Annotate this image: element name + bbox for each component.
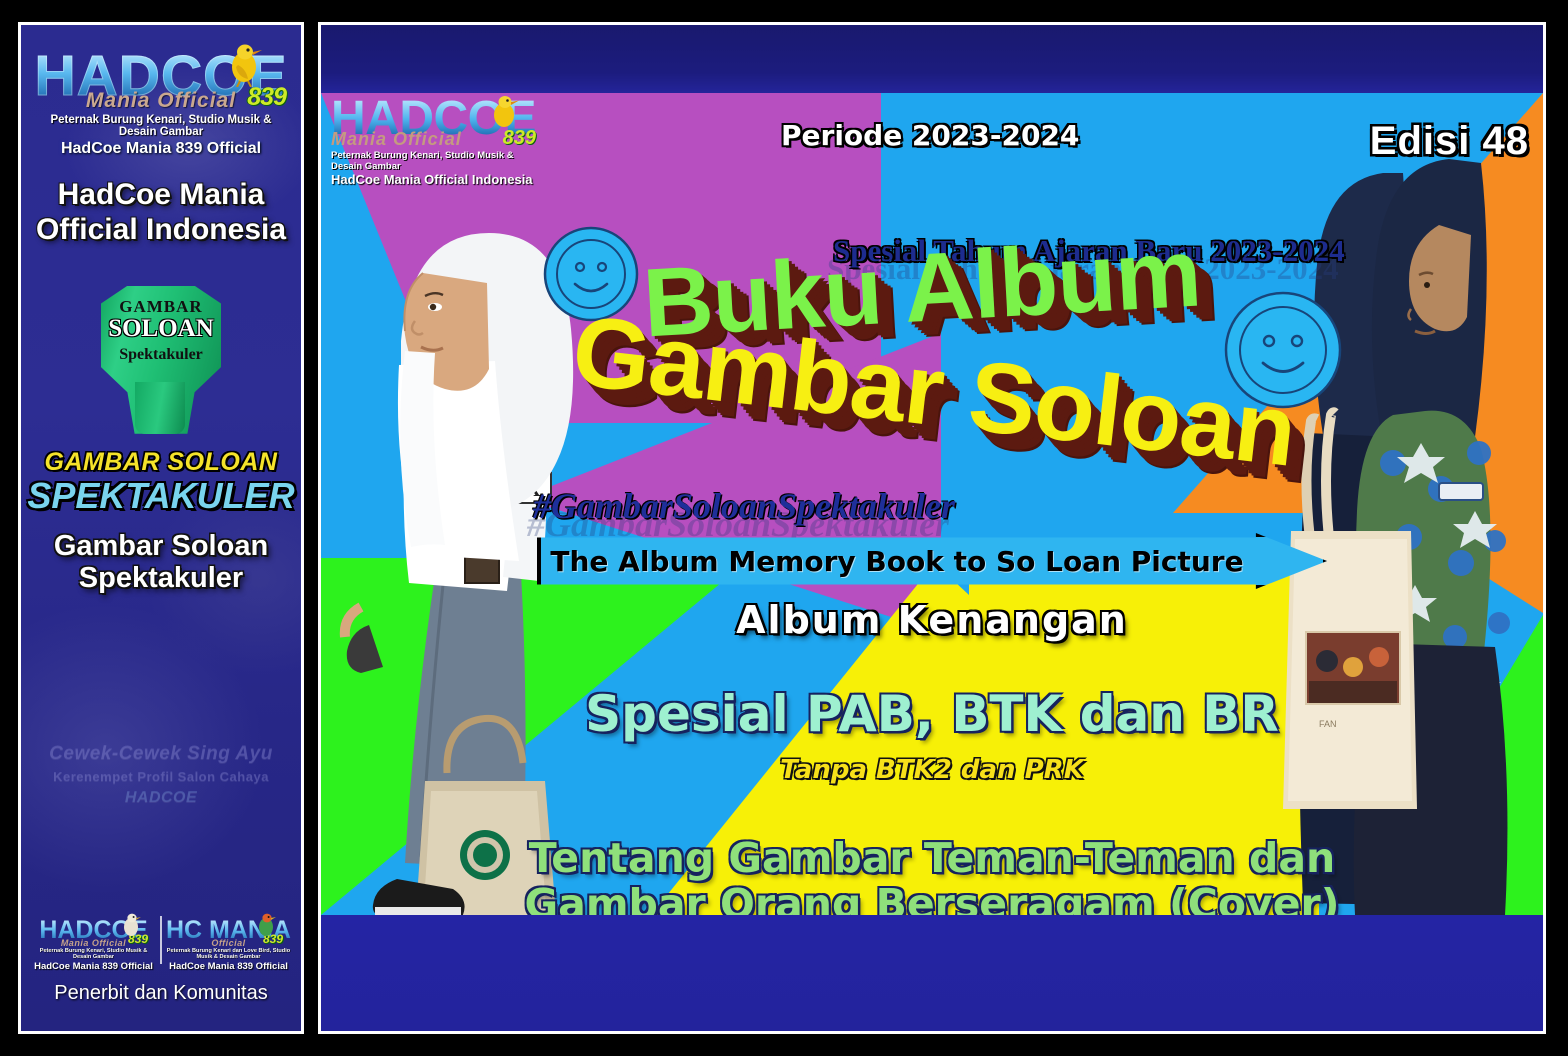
poster-brand-logo: HADCOE 839 Mania Official Peternak Burun…	[331, 97, 536, 187]
footer-logo-left: HADCOE 839 Mania Official Peternak Burun…	[31, 918, 156, 972]
emblem-stem	[135, 382, 185, 434]
brand-account: HadCoe Mania 839 Official	[32, 140, 290, 158]
poster-artwork: X	[321, 93, 1543, 915]
gambar-soloan-emblem: GAMBAR SOLOAN Spektakuler	[21, 286, 301, 434]
arrow-banner-text: The Album Memory Book to So Loan Picture	[537, 533, 1257, 589]
footer-logo-right: HC MANIA 839 Official Peternak Burung Ke…	[166, 918, 291, 972]
brand-839-badge: 839	[247, 83, 286, 112]
canary-bird-icon	[488, 93, 520, 131]
arrow-banner: The Album Memory Book to So Loan Picture	[537, 533, 1327, 589]
lovebird-icon	[255, 912, 277, 938]
sidebar-brand-logo: HADCOE 839 Mania Official Peternak Burun…	[32, 49, 290, 158]
edisi-label: Edisi 48	[1370, 119, 1529, 164]
canary-bird-icon	[224, 41, 264, 87]
sidebar-footer: HADCOE 839 Mania Official Peternak Burun…	[21, 916, 301, 1005]
sidebar-title: HadCoe Mania Official Indonesia	[31, 178, 291, 248]
footer-left-tagline: Peternak Burung Kenari, Studio Musik & D…	[31, 948, 156, 960]
sidebar-footer-caption: Penerbit dan Komunitas	[21, 982, 301, 1005]
footer-right-account: HadCoe Mania 839 Official	[166, 961, 291, 972]
hashtag-label: #GambarSoloanSpektakuler	[533, 485, 955, 527]
emblem-line-1: GAMBAR	[101, 297, 221, 317]
sidebar-stylized-gambar-soloan: GAMBAR SOLOAN	[21, 448, 301, 477]
footer-left-account: HadCoe Mania 839 Official	[31, 961, 156, 972]
poster-logo-tagline: Peternak Burung Kenari, Studio Musik & D…	[331, 150, 536, 172]
poster-panel: X	[318, 22, 1546, 1034]
spesial-pab-label: Spesial PAB, BTK dan BR	[321, 685, 1543, 743]
panel-bottom-band	[321, 915, 1543, 1031]
canary-bird-icon	[120, 912, 142, 938]
tentang-line-2: Gambar Orang Berseragam (Cover)	[321, 881, 1543, 915]
footer-right-tagline: Peternak Burung Kenari dan Love Bird, St…	[166, 948, 291, 960]
brand-tagline: Peternak Burung Kenari, Studio Musik & D…	[32, 114, 290, 138]
periode-label: Periode 2023-2024	[781, 119, 1079, 152]
tentang-block: Tentang Gambar Teman-Teman dan Gambar Or…	[321, 835, 1543, 915]
panel-top-band	[321, 25, 1543, 93]
sidebar-stylized-spektakuler: SPEKTAKULER	[21, 478, 301, 514]
tanpa-btk-label: Tanpa BTK2 dan PRK	[321, 755, 1543, 785]
sidebar-panel: Cewek-Cewek Sing Ayu Kerenempet Profil S…	[18, 22, 304, 1034]
tentang-line-1: Tentang Gambar Teman-Teman dan	[321, 835, 1543, 881]
dual-logo-row: HADCOE 839 Mania Official Peternak Burun…	[21, 916, 301, 972]
poster-logo-account: HadCoe Mania Official Indonesia	[331, 172, 536, 187]
footer-divider	[160, 916, 162, 964]
sidebar-plain-caption: Gambar Soloan Spektakuler	[21, 530, 301, 595]
emblem-line-3: Spektakuler	[101, 346, 221, 364]
album-kenangan-label: Album Kenangan	[321, 598, 1543, 642]
emblem-line-2: SOLOAN	[101, 315, 221, 343]
